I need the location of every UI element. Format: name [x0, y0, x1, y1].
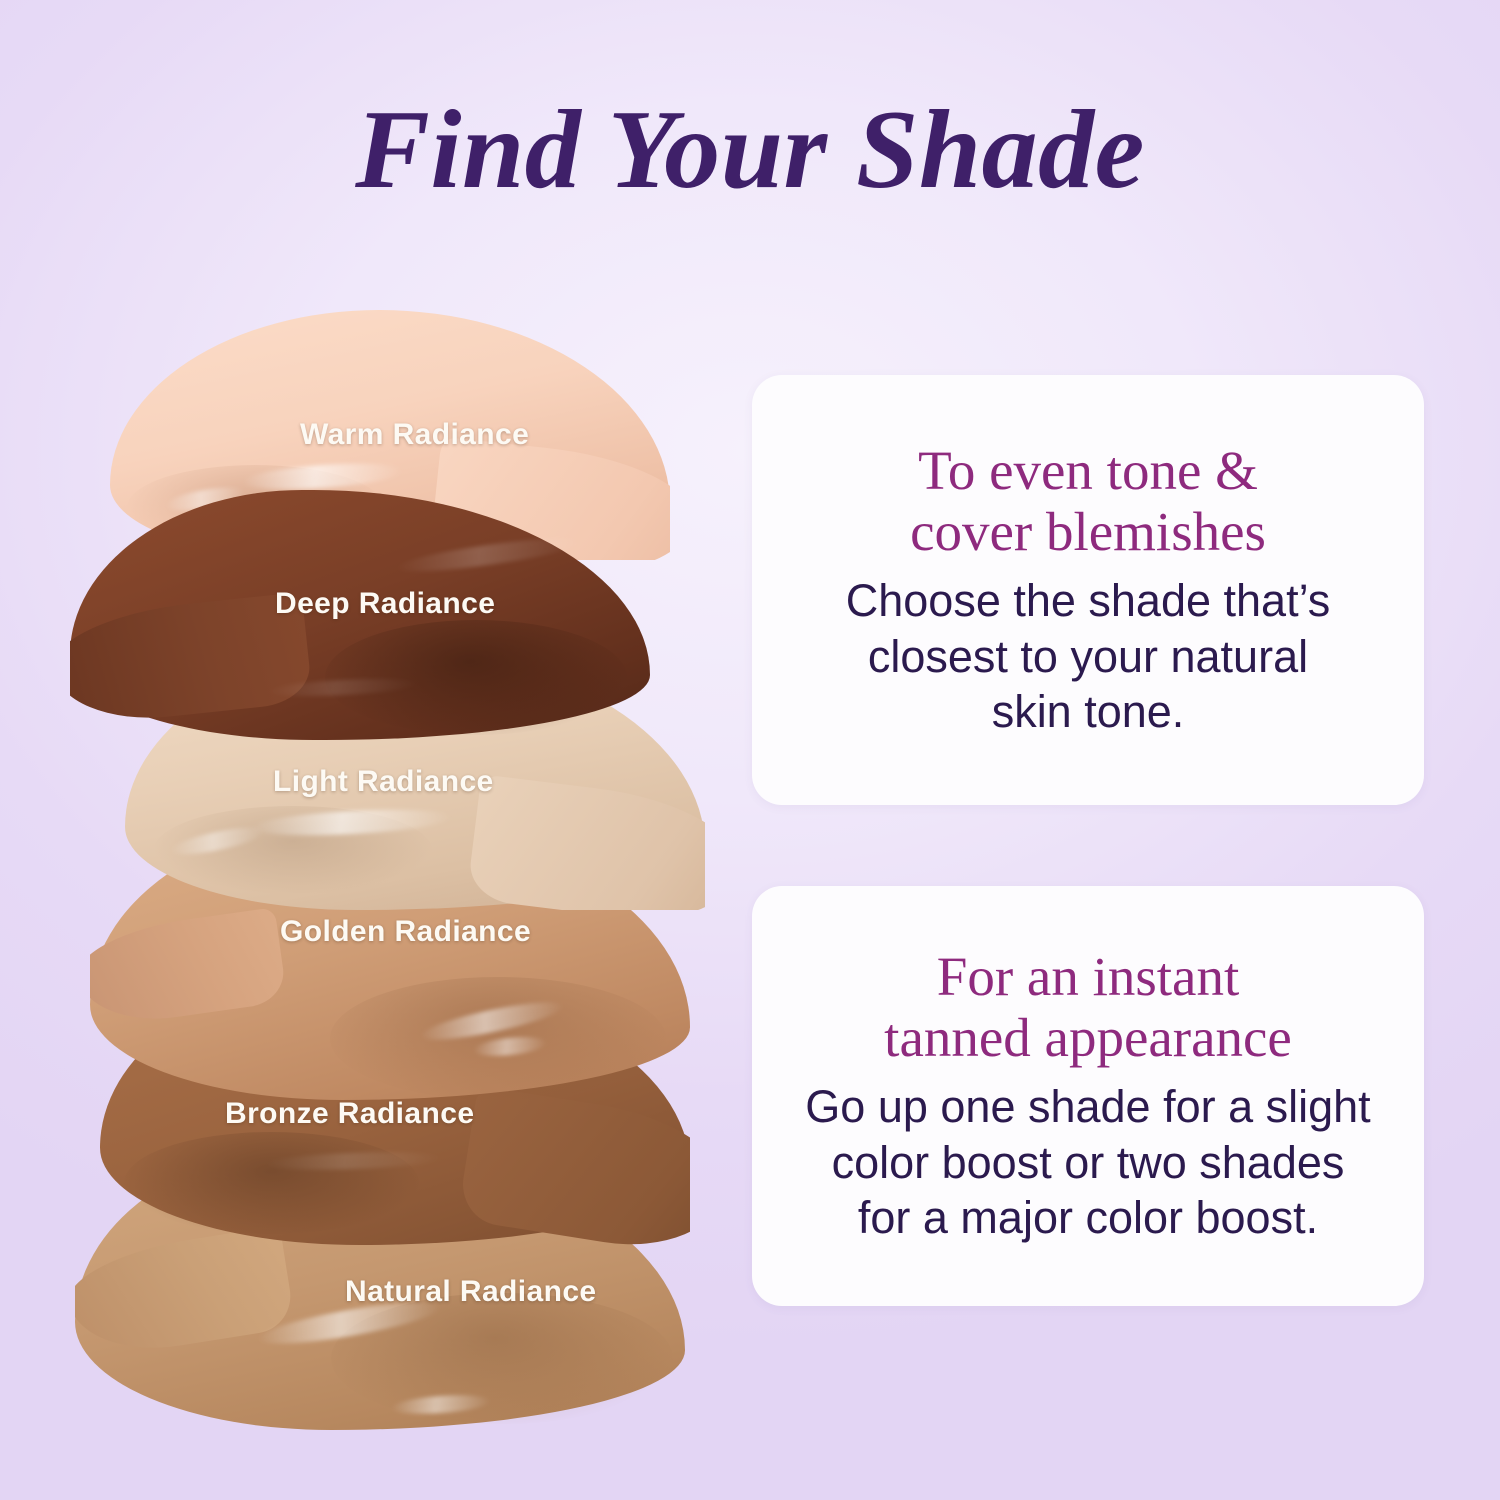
shade-label-light-radiance: Light Radiance: [273, 765, 494, 799]
info-card-body: Go up one shade for a slight color boost…: [805, 1079, 1370, 1246]
shade-label-deep-radiance: Deep Radiance: [275, 587, 495, 621]
info-card-body-line3: skin tone.: [846, 684, 1331, 740]
shade-swatch-deep-radiance[interactable]: Deep Radiance: [70, 490, 650, 740]
info-card-heading-line1: To even tone &: [910, 440, 1266, 502]
page-title: Find Your Shade: [0, 92, 1500, 210]
info-card-heading-line1: For an instant: [884, 946, 1292, 1008]
info-card-body-line2: closest to your natural: [846, 629, 1331, 685]
info-card-body-line2: color boost or two shades: [805, 1135, 1370, 1191]
info-card-body-line3: for a major color boost.: [805, 1190, 1370, 1246]
shade-finder-graphic: Find Your Shade Warm Radiance Deep R: [0, 0, 1500, 1500]
info-card-even-tone: To even tone & cover blemishes Choose th…: [752, 375, 1424, 805]
info-card-body: Choose the shade that’s closest to your …: [846, 573, 1331, 740]
info-card-heading: For an instant tanned appearance: [884, 946, 1292, 1069]
info-card-heading-line2: tanned appearance: [884, 1007, 1292, 1069]
shade-label-golden-radiance: Golden Radiance: [280, 915, 531, 949]
info-card-body-line1: Choose the shade that’s: [846, 573, 1331, 629]
shade-label-bronze-radiance: Bronze Radiance: [225, 1097, 474, 1131]
shade-label-warm-radiance: Warm Radiance: [300, 418, 529, 452]
info-card-body-line1: Go up one shade for a slight: [805, 1079, 1370, 1135]
shade-swatch-cluster: Warm Radiance Deep Radiance Light Radi: [70, 300, 770, 1430]
info-card-instant-tan: For an instant tanned appearance Go up o…: [752, 886, 1424, 1306]
info-card-heading-line2: cover blemishes: [910, 501, 1266, 563]
info-card-heading: To even tone & cover blemishes: [910, 440, 1266, 563]
shade-label-natural-radiance: Natural Radiance: [345, 1275, 596, 1309]
